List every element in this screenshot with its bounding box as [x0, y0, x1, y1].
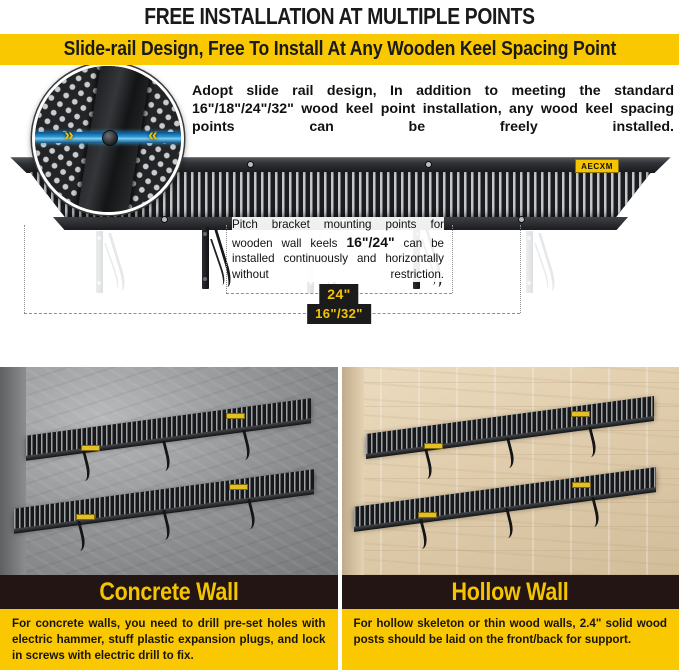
- dimension-line-16-32: [24, 313, 520, 314]
- dimension-tag-16-32: 16"/32": [307, 304, 371, 324]
- deck-screw: [162, 217, 167, 222]
- installed-shelf-lower: [354, 487, 656, 542]
- photo-concrete-wall: [0, 367, 338, 575]
- brand-badge: [424, 443, 443, 449]
- panel-hollow-wall: Hollow Wall For hollow skeleton or thin …: [342, 367, 679, 670]
- bracket-ghost-alt-position: [96, 231, 120, 293]
- wall-type-panels: Concrete Wall For concrete walls, you ne…: [0, 367, 679, 670]
- brand-badge: [229, 484, 248, 490]
- installed-shelf-lower: [14, 489, 314, 544]
- panel-body-hollow: For hollow skeleton or thin wood walls, …: [342, 609, 679, 670]
- brand-badge: [76, 514, 95, 520]
- brand-badge: [226, 413, 245, 419]
- brand-badge: AECXM: [575, 159, 619, 173]
- deck-screw: [248, 162, 253, 167]
- pitch-callout-line1: Pitch bracket mounting points: [232, 218, 416, 231]
- bracket-ghost-alt-position: [526, 231, 550, 293]
- bracket-mounted: [202, 227, 226, 289]
- arrow-right-chevron-icon: »: [64, 126, 73, 143]
- installed-shelf-upper: [366, 415, 654, 475]
- deck-screw: [519, 217, 524, 222]
- page-title: FREE INSTALLATION AT MULTIPLE POINTS: [54, 0, 624, 34]
- pitch-callout-keel-sizes: 16"/24": [346, 234, 394, 250]
- arrow-left-chevron-icon: «: [148, 126, 157, 143]
- subtitle-banner-text: Slide-rail Design, Free To Install At An…: [63, 38, 615, 61]
- panel-body-concrete: For concrete walls, you need to drill pr…: [0, 609, 338, 670]
- panel-title-text: Hollow Wall: [452, 578, 569, 607]
- brand-badge: [81, 445, 100, 451]
- hero-description: Adopt slide rail design, In addition to …: [192, 82, 674, 136]
- pitch-bracket-callout: Pitch bracket mounting points for wooden…: [232, 217, 444, 282]
- mounting-bolt-icon: [102, 130, 118, 146]
- brand-badge: [418, 512, 437, 518]
- panel-concrete-wall: Concrete Wall For concrete walls, you ne…: [0, 367, 338, 670]
- brand-badge: [571, 411, 590, 417]
- slide-rail-detail-magnifier: » «: [32, 65, 184, 215]
- installed-shelf-upper: [26, 417, 311, 477]
- panel-title-concrete: Concrete Wall: [0, 575, 338, 609]
- panel-title-hollow: Hollow Wall: [342, 575, 679, 609]
- hero-product-section: » « Adopt slide rail design, In addition…: [0, 65, 679, 361]
- panel-title-text: Concrete Wall: [99, 578, 238, 607]
- subtitle-banner: Slide-rail Design, Free To Install At An…: [0, 34, 679, 65]
- photo-hollow-wall: [342, 367, 679, 575]
- dimension-line-24: [226, 293, 452, 294]
- brand-badge: [572, 482, 591, 488]
